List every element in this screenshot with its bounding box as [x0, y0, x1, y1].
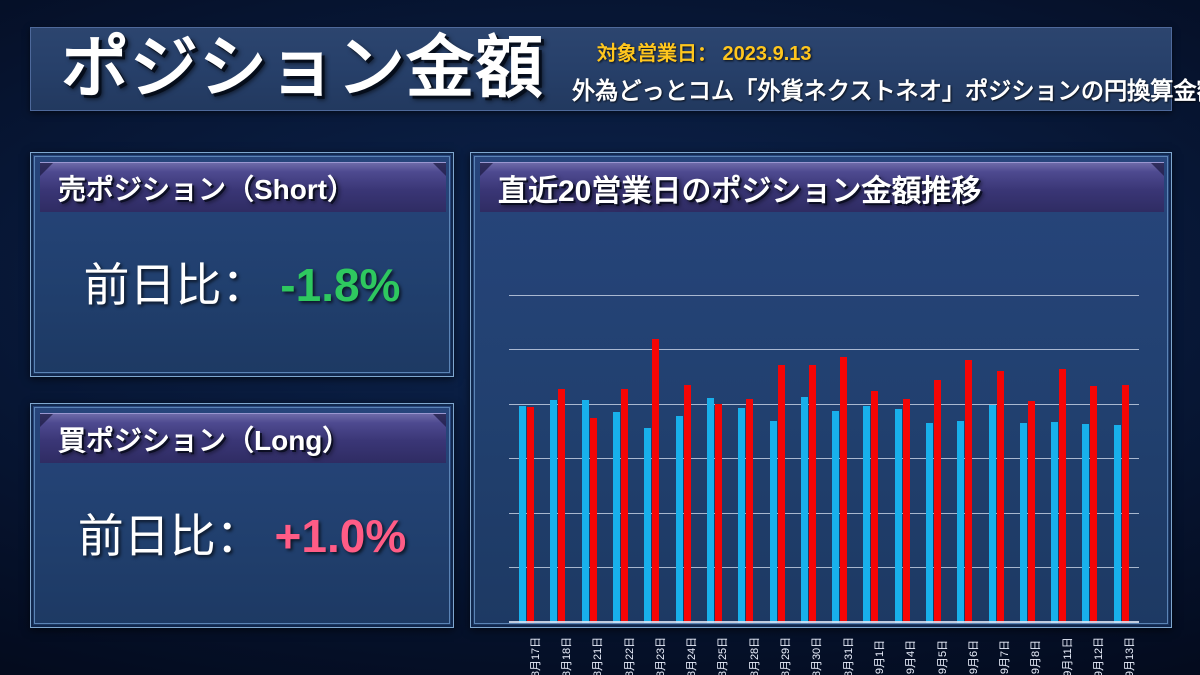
bar-buy	[1059, 369, 1066, 623]
x-axis-label-text: 9月6日	[965, 640, 981, 674]
bar-group	[605, 241, 636, 623]
page-title: ポジション金額	[61, 22, 544, 114]
x-axis-label: 8月28日	[730, 627, 761, 675]
bar-sell	[644, 428, 651, 623]
bar-group	[793, 241, 824, 623]
bar-sell	[770, 421, 777, 623]
bar-group	[918, 241, 949, 623]
x-axis-label: 9月4日	[887, 627, 918, 675]
bar-group	[511, 241, 542, 623]
short-change-label: 前日比：	[84, 259, 268, 311]
x-axis-label-text: 8月18日	[558, 637, 574, 675]
x-axis-label: 9月5日	[918, 627, 949, 675]
bar-sell	[738, 408, 745, 623]
x-axis-label-text: 8月24日	[683, 637, 699, 675]
bar-buy	[527, 407, 534, 623]
x-axis-label-text: 9月4日	[902, 640, 918, 674]
bar-group	[1043, 241, 1074, 623]
x-axis-label: 8月24日	[667, 627, 698, 675]
x-axis-label-text: 8月22日	[621, 637, 637, 675]
bar-buy	[558, 389, 565, 623]
bar-group	[887, 241, 918, 623]
bar-sell	[863, 406, 870, 623]
bar-buy	[934, 380, 941, 623]
x-axis-label-text: 9月5日	[934, 640, 950, 674]
bar-group	[574, 241, 605, 623]
bar-group	[542, 241, 573, 623]
bar-buy	[746, 399, 753, 623]
x-axis-label: 8月23日	[636, 627, 667, 675]
long-change-value: +1.0%	[275, 510, 407, 562]
x-axis-label: 8月17日	[511, 627, 542, 675]
bar-sell	[550, 400, 557, 623]
bar-sell	[1020, 423, 1027, 623]
bar-sell	[801, 397, 808, 623]
bar-group	[761, 241, 792, 623]
chart-plot-area	[509, 241, 1139, 623]
bar-buy	[809, 365, 816, 623]
chart-baseline	[509, 621, 1139, 623]
chart-card-title: 直近20営業日のポジション金額推移	[480, 162, 1164, 212]
x-axis-label: 8月30日	[793, 627, 824, 675]
x-axis-label: 9月12日	[1074, 627, 1105, 675]
bar-buy	[840, 357, 847, 623]
x-axis-label: 8月21日	[574, 627, 605, 675]
bar-buy	[715, 404, 722, 623]
bar-sell	[613, 412, 620, 623]
bar-buy	[621, 389, 628, 623]
bar-buy	[965, 360, 972, 623]
bar-buy	[903, 399, 910, 623]
bar-buy	[1028, 401, 1035, 623]
short-change-value: -1.8%	[280, 259, 400, 311]
long-change-label: 前日比：	[78, 510, 262, 562]
bar-buy	[1122, 385, 1129, 623]
header-banner: ポジション金額 対象営業日： 2023.9.13 外為どっとコム「外貨ネクストネ…	[30, 27, 1172, 111]
bar-sell	[989, 405, 996, 623]
header-subtitle: 外為どっとコム「外貨ネクストネオ」ポジションの円換算金額	[572, 71, 1200, 106]
chart-x-axis-labels: 8月17日8月18日8月21日8月22日8月23日8月24日8月25日8月28日…	[509, 627, 1139, 675]
bar-group	[855, 241, 886, 623]
bar-sell	[1082, 424, 1089, 623]
bar-sell	[707, 398, 714, 623]
bar-buy	[684, 385, 691, 623]
x-axis-label-text: 8月29日	[777, 637, 793, 675]
short-position-card: 売ポジション（Short） 前日比： -1.8%	[30, 152, 454, 377]
bar-sell	[1114, 425, 1121, 623]
x-axis-label-text: 9月11日	[1059, 637, 1075, 675]
long-change-row: 前日比： +1.0%	[31, 500, 453, 566]
x-axis-label: 9月6日	[949, 627, 980, 675]
bar-buy	[778, 365, 785, 623]
bar-sell	[832, 411, 839, 623]
bar-group	[1012, 241, 1043, 623]
x-axis-label: 9月1日	[855, 627, 886, 675]
x-axis-label: 8月18日	[542, 627, 573, 675]
target-business-date: 対象営業日： 2023.9.13	[597, 37, 812, 66]
bar-sell	[582, 400, 589, 623]
x-axis-label-text: 8月28日	[746, 637, 762, 675]
x-axis-label-text: 8月30日	[808, 637, 824, 675]
bar-buy	[871, 391, 878, 623]
bar-group	[730, 241, 761, 623]
short-change-row: 前日比： -1.8%	[31, 249, 453, 315]
bar-sell	[895, 409, 902, 623]
bar-buy	[997, 371, 1004, 623]
bar-sell	[676, 416, 683, 623]
bar-group	[699, 241, 730, 623]
bar-group	[980, 241, 1011, 623]
bar-sell	[926, 423, 933, 623]
x-axis-label-text: 9月7日	[996, 640, 1012, 674]
bar-buy	[652, 339, 659, 623]
x-axis-label-text: 8月23日	[652, 637, 668, 675]
bar-group	[1074, 241, 1105, 623]
bar-group	[667, 241, 698, 623]
long-position-card: 買ポジション（Long） 前日比： +1.0%	[30, 403, 454, 628]
x-axis-label-text: 9月8日	[1027, 640, 1043, 674]
bar-buy	[1090, 386, 1097, 623]
x-axis-label: 9月11日	[1043, 627, 1074, 675]
bar-group	[949, 241, 980, 623]
chart-bars	[509, 241, 1139, 623]
x-axis-label: 8月25日	[699, 627, 730, 675]
short-card-title: 売ポジション（Short）	[40, 162, 446, 212]
x-axis-label: 9月7日	[980, 627, 1011, 675]
bar-sell	[519, 406, 526, 623]
x-axis-label-text: 8月21日	[589, 637, 605, 675]
bar-buy	[590, 418, 597, 623]
position-trend-chart-card: 直近20営業日のポジション金額推移 8月17日8月18日8月21日8月22日8月…	[470, 152, 1172, 628]
slide-canvas: ポジション金額 対象営業日： 2023.9.13 外為どっとコム「外貨ネクストネ…	[0, 0, 1200, 675]
long-card-title: 買ポジション（Long）	[40, 413, 446, 463]
x-axis-label-text: 9月12日	[1090, 637, 1106, 675]
x-axis-label-text: 9月13日	[1121, 637, 1137, 675]
x-axis-label: 8月29日	[761, 627, 792, 675]
bar-sell	[957, 421, 964, 623]
x-axis-label-text: 8月25日	[714, 637, 730, 675]
x-axis-label-text: 9月1日	[871, 640, 887, 674]
x-axis-label-text: 8月17日	[527, 637, 543, 675]
x-axis-label: 9月13日	[1106, 627, 1137, 675]
bar-sell	[1051, 422, 1058, 623]
bar-group	[636, 241, 667, 623]
x-axis-label: 8月31日	[824, 627, 855, 675]
bar-group	[1106, 241, 1137, 623]
x-axis-label-text: 8月31日	[840, 637, 856, 675]
x-axis-label: 9月8日	[1012, 627, 1043, 675]
bar-group	[824, 241, 855, 623]
x-axis-label: 8月22日	[605, 627, 636, 675]
